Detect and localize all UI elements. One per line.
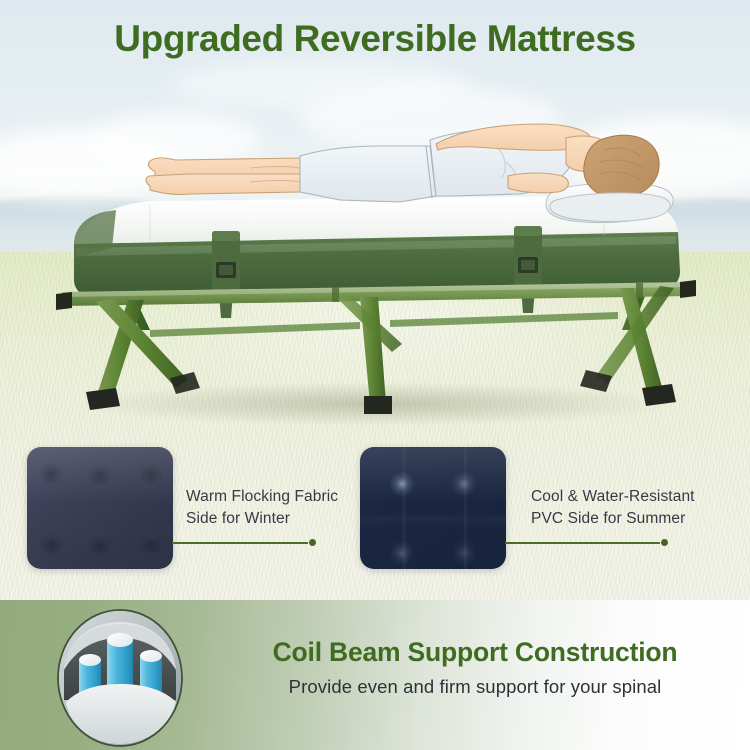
pvc-surface-swatch xyxy=(360,447,506,569)
leader-dot-left xyxy=(309,539,316,546)
callout-label-warm-flocking: Warm Flocking Fabric Side for Winter xyxy=(186,486,371,530)
banner-subtitle: Provide even and firm support for your s… xyxy=(205,676,745,698)
page-title: Upgraded Reversible Mattress xyxy=(0,18,750,60)
feature-callouts: Warm Flocking Fabric Side for Winter Coo… xyxy=(0,430,750,600)
callout-line-2: Side for Winter xyxy=(186,508,371,530)
product-infographic: Upgraded Reversible Mattress xyxy=(0,0,750,750)
leader-line-right xyxy=(505,542,660,544)
pillow-front-fold xyxy=(550,193,670,222)
swatch-gloss xyxy=(27,447,173,503)
banner-title: Coil Beam Support Construction xyxy=(205,637,745,668)
coil-beam-icon xyxy=(52,608,188,748)
leader-line-left xyxy=(172,542,308,544)
callout-label-cool-pvc: Cool & Water-Resistant PVC Side for Summ… xyxy=(531,486,736,530)
person-shorts xyxy=(300,146,436,202)
swatch-gloss xyxy=(360,447,506,503)
leader-dot-right xyxy=(661,539,668,546)
callout-line-1: Cool & Water-Resistant xyxy=(531,486,736,508)
flocking-fabric-swatch xyxy=(27,447,173,569)
callout-line-1: Warm Flocking Fabric xyxy=(186,486,371,508)
callout-line-2: PVC Side for Summer xyxy=(531,508,736,530)
